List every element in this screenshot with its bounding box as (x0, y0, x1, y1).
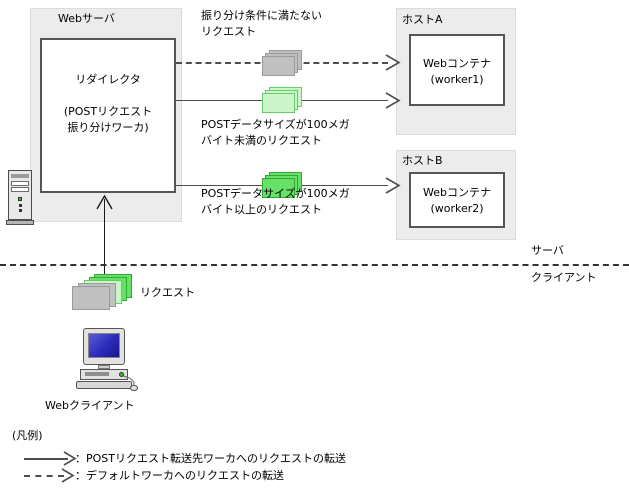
small-post-flow-label-line1: POSTデータサイズが100メガ (201, 117, 350, 132)
large-post-flow-label-line1: POSTデータサイズが100メガ (201, 186, 350, 201)
host-b-container-box: Webコンテナ (worker2) (409, 172, 505, 228)
default-flow-label-line1: 振り分け条件に満たない (201, 8, 322, 23)
host-a-container-box: Webコンテナ (worker1) (409, 34, 505, 106)
server-client-divider (0, 264, 629, 266)
client-name-label: Webクライアント (45, 398, 135, 413)
legend-dashed-arrowhead (60, 467, 76, 484)
redirector-box: リダイレクタ (POSTリクエスト 振り分けワーカ) (40, 38, 176, 193)
large-post-flow-label-line2: バイト以上のリクエスト (201, 202, 322, 217)
host-b-container-line1: Webコンテナ (411, 185, 503, 200)
client-request-label: リクエスト (140, 285, 195, 300)
client-request-packet-stack (72, 274, 134, 310)
host-a-title: ホストA (402, 13, 443, 26)
server-side-label: サーバ (531, 243, 564, 258)
host-a-container-line1: Webコンテナ (411, 56, 503, 71)
default-flow-label-line2: リクエスト (201, 24, 256, 39)
client-request-arrowhead (95, 194, 114, 212)
host-b-container-line2: (worker2) (411, 201, 503, 216)
redirector-subtitle-line1: (POSTリクエスト (42, 104, 174, 119)
legend-item-solid-text: ：POSTリクエスト転送先ワーカへのリクエストの転送 (75, 451, 346, 466)
legend-title: (凡例) (12, 428, 43, 443)
small-post-request-packet (262, 87, 304, 115)
host-a-container-line2: (worker1) (411, 72, 503, 87)
legend-item-dashed-text: ：デフォルトワーカへのリクエストの転送 (75, 468, 284, 483)
redirector-title: リダイレクタ (42, 72, 174, 87)
default-request-packet (262, 50, 304, 78)
legend-dashed-line (24, 475, 64, 477)
small-post-flow-arrowhead (384, 91, 402, 110)
client-computer-icon (76, 328, 136, 390)
webserver-panel-title: Webサーバ (58, 12, 178, 25)
server-tower-icon (6, 170, 36, 228)
large-post-flow-arrowhead (384, 176, 402, 195)
client-side-label: クライアント (531, 270, 597, 285)
default-flow-arrowhead (384, 53, 402, 72)
host-b-title: ホストB (402, 154, 443, 167)
diagram-canvas: Webサーバ リダイレクタ (POSTリクエスト 振り分けワーカ) ホストA W… (0, 0, 629, 492)
small-post-flow-label-line2: バイト未満のリクエスト (201, 133, 322, 148)
redirector-subtitle-line2: 振り分けワーカ) (42, 120, 174, 135)
